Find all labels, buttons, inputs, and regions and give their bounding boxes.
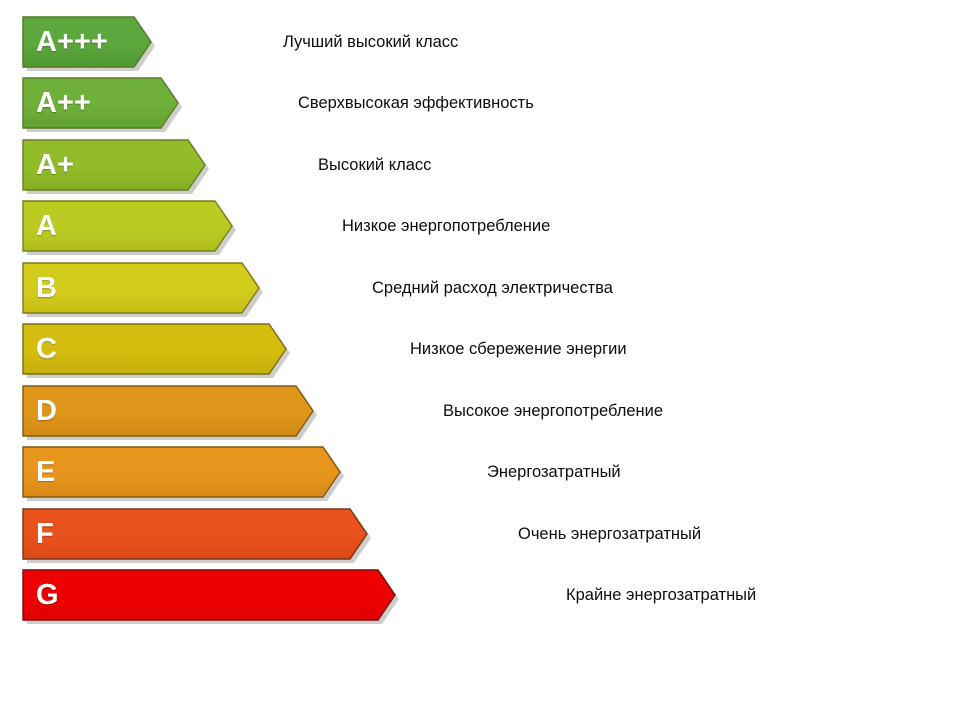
- energy-class-row: A+Высокий класс: [0, 139, 960, 191]
- energy-efficiency-chart: A+++Лучший высокий классA++Сверхвысокая …: [0, 0, 960, 720]
- bar-shape: [22, 200, 233, 252]
- energy-class-description: Низкое энергопотребление: [342, 200, 550, 252]
- energy-class-bar-b[interactable]: B: [22, 262, 260, 314]
- bar-shape: [22, 262, 260, 314]
- bar-shape: [22, 77, 179, 129]
- bar-shape: [22, 385, 314, 437]
- energy-class-description: Сверхвысокая эффективность: [298, 77, 534, 129]
- energy-class-row: A++Сверхвысокая эффективность: [0, 77, 960, 129]
- bar-shape: [22, 323, 287, 375]
- energy-class-description: Высокое энергопотребление: [443, 385, 663, 437]
- energy-class-row: BСредний расход электричества: [0, 262, 960, 314]
- energy-class-row: AНизкое энергопотребление: [0, 200, 960, 252]
- energy-class-bar-aplus[interactable]: A+: [22, 139, 206, 191]
- energy-class-description: Высокий класс: [318, 139, 431, 191]
- bar-shape: [22, 569, 396, 621]
- energy-class-description: Средний расход электричества: [372, 262, 613, 314]
- energy-class-description: Низкое сбережение энергии: [410, 323, 627, 375]
- energy-class-row: EЭнергозатратный: [0, 446, 960, 498]
- bar-shape: [22, 508, 368, 560]
- energy-class-bar-aplusplusplus[interactable]: A+++: [22, 16, 152, 68]
- energy-class-bar-e[interactable]: E: [22, 446, 341, 498]
- energy-class-description: Крайне энергозатратный: [566, 569, 756, 621]
- energy-class-description: Энергозатратный: [487, 446, 621, 498]
- energy-class-row: GКрайне энергозатратный: [0, 569, 960, 621]
- energy-class-bar-g[interactable]: G: [22, 569, 396, 621]
- energy-class-row: FОчень энергозатратный: [0, 508, 960, 560]
- energy-class-description: Очень энергозатратный: [518, 508, 701, 560]
- energy-class-row: DВысокое энергопотребление: [0, 385, 960, 437]
- energy-class-bar-aplusplus[interactable]: A++: [22, 77, 179, 129]
- energy-class-bar-c[interactable]: C: [22, 323, 287, 375]
- energy-class-bar-f[interactable]: F: [22, 508, 368, 560]
- energy-class-description: Лучший высокий класс: [283, 16, 458, 68]
- bar-shape: [22, 139, 206, 191]
- energy-class-row: CНизкое сбережение энергии: [0, 323, 960, 375]
- energy-class-row: A+++Лучший высокий класс: [0, 16, 960, 68]
- energy-class-bar-d[interactable]: D: [22, 385, 314, 437]
- bar-shape: [22, 446, 341, 498]
- energy-class-bar-a[interactable]: A: [22, 200, 233, 252]
- bar-shape: [22, 16, 152, 68]
